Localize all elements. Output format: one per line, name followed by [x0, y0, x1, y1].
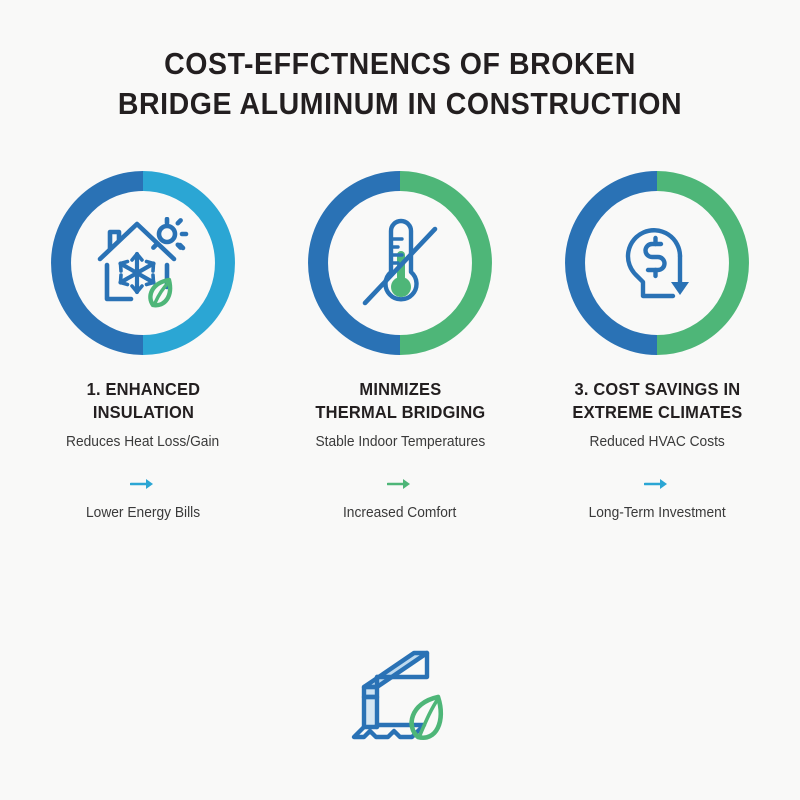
dollar-cost-down-icon — [564, 170, 750, 356]
benefit-heading-1-line2: INSULATION — [86, 401, 200, 424]
benefit-subtext-1: Reduces Heat Loss/Gain — [66, 433, 219, 452]
ring-chart-3 — [564, 170, 750, 356]
benefit-heading-2-line2: THERMAL BRIDGING — [315, 401, 485, 424]
benefit-heading-2: MINMIZES THERMAL BRIDGING — [315, 378, 485, 424]
title-line-2: BRIDGE ALUMINUM IN CONSTRUCTION — [78, 84, 722, 124]
benefit-heading-3-line2: EXTREME CLIMATES — [572, 401, 742, 424]
thermometer-no-slash-icon — [307, 170, 493, 356]
title-line-1: COST-EFFCTNENCS OF BROKEN — [78, 44, 722, 84]
arrow-right-icon-1 — [130, 476, 156, 492]
benefit-column-3: 3. COST SAVINGS IN EXTREME CLIMATES Redu… — [534, 170, 780, 523]
benefit-columns: 1. ENHANCED INSULATION Reduces Heat Loss… — [20, 170, 780, 523]
benefit-heading-1-line1: 1. ENHANCED — [86, 378, 200, 401]
benefit-outcome-2: Increased Comfort — [343, 504, 456, 523]
house-snowflake-sun-leaf-icon — [50, 170, 236, 356]
benefit-heading-3-line1: 3. COST SAVINGS IN — [572, 378, 742, 401]
benefit-column-2: MINMIZES THERMAL BRIDGING Stable Indoor … — [277, 170, 523, 523]
benefit-subtext-2: Stable Indoor Temperatures — [315, 433, 485, 452]
arrow-right-icon-3 — [644, 476, 670, 492]
benefit-heading-3: 3. COST SAVINGS IN EXTREME CLIMATES — [572, 378, 742, 424]
infographic-root: COST-EFFCTNENCS OF BROKEN BRIDGE ALUMINU… — [0, 0, 800, 800]
benefit-heading-1: 1. ENHANCED INSULATION — [86, 378, 200, 424]
footer-logo — [0, 641, 800, 754]
benefit-heading-2-line1: MINMIZES — [315, 378, 485, 401]
benefit-outcome-1: Lower Energy Bills — [86, 504, 200, 523]
aluminum-profile-leaf-logo — [330, 641, 470, 754]
benefit-outcome-3: Long-Term Investment — [588, 504, 725, 523]
ring-chart-2 — [307, 170, 493, 356]
arrow-right-icon-2 — [387, 476, 413, 492]
page-title: COST-EFFCTNENCS OF BROKEN BRIDGE ALUMINU… — [50, 44, 750, 124]
benefit-subtext-3: Reduced HVAC Costs — [589, 433, 724, 452]
ring-chart-1 — [50, 170, 236, 356]
benefit-column-1: 1. ENHANCED INSULATION Reduces Heat Loss… — [20, 170, 266, 523]
